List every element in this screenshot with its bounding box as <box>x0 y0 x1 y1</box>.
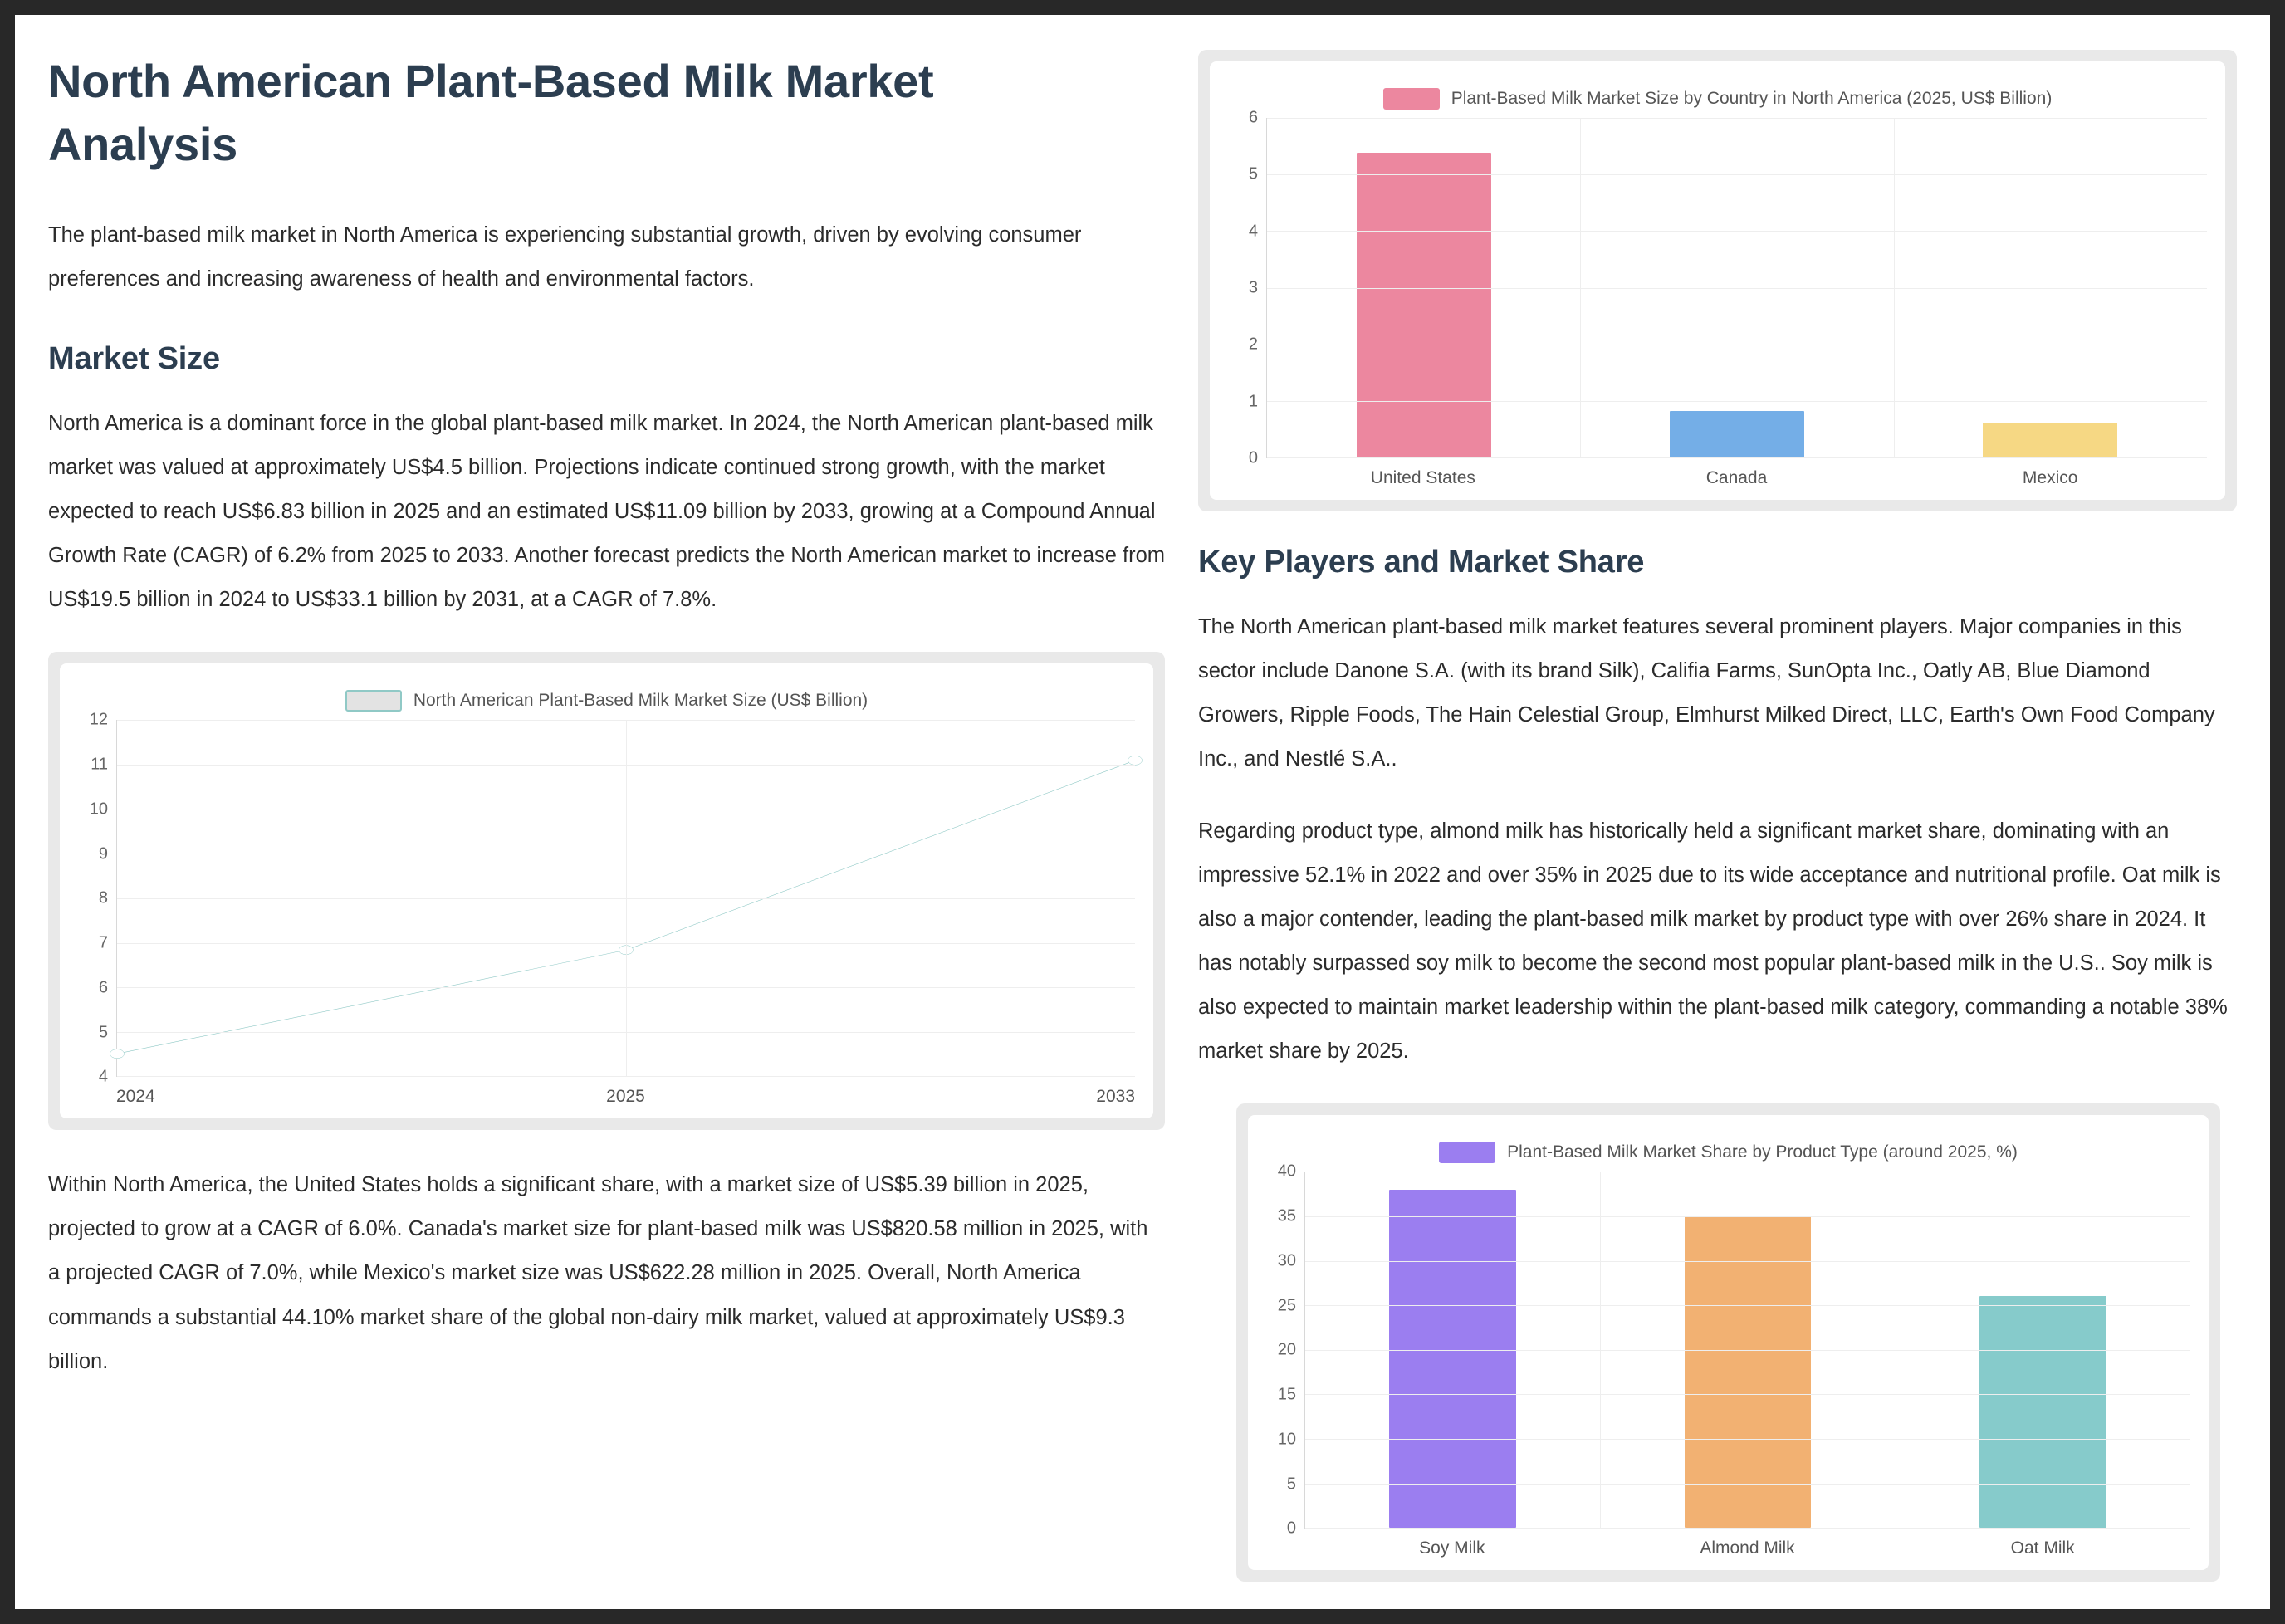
y-axis-tick: 2 <box>1249 335 1258 355</box>
y-axis-tick: 30 <box>1278 1251 1296 1270</box>
legend-swatch-product-type <box>1439 1142 1495 1163</box>
x-axis-product-type: Soy MilkAlmond MilkOat Milk <box>1304 1529 2190 1558</box>
gridline <box>1267 457 2207 458</box>
y-axis-product-type: 0510152025303540 <box>1266 1172 1304 1529</box>
y-axis-tick: 10 <box>90 800 108 819</box>
plot-market-size: 456789101112 <box>78 720 1135 1077</box>
gridline <box>1305 1261 2190 1262</box>
right-column: Plant-Based Milk Market Size by Country … <box>1198 50 2237 1609</box>
chart-card-market-size: North American Plant-Based Milk Market S… <box>48 652 1165 1130</box>
y-axis-tick: 35 <box>1278 1207 1296 1226</box>
gridline <box>1305 1172 2190 1172</box>
y-axis-market-size: 456789101112 <box>78 720 116 1077</box>
vertical-gridline <box>626 720 627 1076</box>
legend-label-country: Plant-Based Milk Market Size by Country … <box>1451 89 2053 109</box>
y-axis-tick: 5 <box>99 1023 108 1042</box>
x-axis-label: United States <box>1266 468 1580 488</box>
y-axis-tick: 3 <box>1249 279 1258 298</box>
gridline <box>1267 401 2207 402</box>
section-heading-market-size: Market Size <box>48 341 1165 377</box>
gridline <box>1305 1216 2190 1217</box>
bar <box>1389 1190 1516 1529</box>
y-axis-tick: 11 <box>91 756 108 775</box>
y-axis-country: 0123456 <box>1228 118 1266 458</box>
gridline <box>1267 345 2207 345</box>
y-axis-tick: 1 <box>1249 392 1258 411</box>
y-axis-tick: 9 <box>99 844 108 863</box>
market-size-paragraph-1: North America is a dominant force in the… <box>48 402 1165 622</box>
gridline <box>1305 1484 2190 1485</box>
chart-legend-product-type: Plant-Based Milk Market Share by Product… <box>1266 1142 2190 1163</box>
y-axis-tick: 5 <box>1249 165 1258 184</box>
left-column: North American Plant-Based Milk Market A… <box>48 50 1165 1609</box>
key-players-paragraph-2: Regarding product type, almond milk has … <box>1198 810 2237 1074</box>
x-axis-label: 2033 <box>795 1087 1135 1107</box>
y-axis-tick: 25 <box>1278 1296 1296 1315</box>
vertical-gridline <box>1580 118 1581 457</box>
data-point-marker <box>110 1049 124 1059</box>
plot-area-country <box>1266 118 2207 458</box>
gridline <box>1267 231 2207 232</box>
x-axis-label: 2025 <box>456 1087 795 1107</box>
vertical-gridline <box>1896 1172 1896 1528</box>
gridline <box>1305 1350 2190 1351</box>
gridline <box>1267 174 2207 175</box>
x-axis-label: Canada <box>1580 468 1894 488</box>
x-axis-label: Mexico <box>1893 468 2207 488</box>
legend-swatch-country <box>1383 88 1440 110</box>
bar <box>1670 411 1804 457</box>
gridline <box>117 1076 1135 1077</box>
y-axis-tick: 8 <box>99 889 108 908</box>
legend-swatch-market-size <box>345 690 402 712</box>
chart-inner-country: Plant-Based Milk Market Size by Country … <box>1210 61 2225 500</box>
chart-legend-country: Plant-Based Milk Market Size by Country … <box>1228 88 2207 110</box>
y-axis-tick: 0 <box>1249 449 1258 468</box>
x-axis-market-size: 202420252033 <box>116 1077 1135 1107</box>
y-axis-tick: 15 <box>1278 1386 1296 1405</box>
y-axis-tick: 0 <box>1287 1519 1296 1538</box>
plot-area-market-size <box>116 720 1135 1077</box>
legend-label-market-size: North American Plant-Based Milk Market S… <box>413 691 868 711</box>
gridline <box>1267 118 2207 119</box>
y-axis-tick: 4 <box>99 1068 108 1087</box>
document-page: North American Plant-Based Milk Market A… <box>15 15 2270 1609</box>
bar <box>1685 1216 1812 1528</box>
x-axis-label: Soy Milk <box>1304 1538 1600 1558</box>
bar <box>1979 1296 2106 1528</box>
bar <box>1983 423 2117 457</box>
gridline <box>1267 288 2207 289</box>
plot-area-product-type <box>1304 1172 2190 1529</box>
section-heading-key-players: Key Players and Market Share <box>1198 545 2237 580</box>
gridline <box>1305 1394 2190 1395</box>
y-axis-tick: 12 <box>90 711 108 730</box>
gridline <box>1305 1528 2190 1529</box>
plot-country: 0123456 <box>1228 118 2207 458</box>
x-axis-country: United StatesCanadaMexico <box>1266 458 2207 488</box>
document-columns: North American Plant-Based Milk Market A… <box>15 15 2270 1609</box>
intro-paragraph: The plant-based milk market in North Ame… <box>48 213 1165 301</box>
x-axis-label: Oat Milk <box>1895 1538 2190 1558</box>
vertical-gridline <box>1894 118 1895 457</box>
page-title: North American Plant-Based Milk Market A… <box>48 50 1028 175</box>
y-axis-tick: 20 <box>1278 1341 1296 1360</box>
y-axis-tick: 40 <box>1278 1162 1296 1181</box>
market-size-paragraph-2: Within North America, the United States … <box>48 1163 1165 1383</box>
chart-inner-product-type: Plant-Based Milk Market Share by Product… <box>1248 1115 2209 1570</box>
x-axis-label: 2024 <box>116 1087 456 1107</box>
vertical-gridline <box>1600 1172 1601 1528</box>
gridline <box>1305 1439 2190 1440</box>
y-axis-tick: 4 <box>1249 222 1258 241</box>
plot-product-type: 0510152025303540 <box>1266 1172 2190 1529</box>
chart-card-product-type: Plant-Based Milk Market Share by Product… <box>1236 1103 2220 1582</box>
bar <box>1357 153 1491 457</box>
gridline <box>1305 1305 2190 1306</box>
chart-inner-market-size: North American Plant-Based Milk Market S… <box>60 663 1153 1118</box>
x-axis-label: Almond Milk <box>1600 1538 1896 1558</box>
y-axis-tick: 5 <box>1287 1475 1296 1494</box>
chart-legend-market-size: North American Plant-Based Milk Market S… <box>78 690 1135 712</box>
y-axis-tick: 6 <box>99 978 108 997</box>
y-axis-tick: 7 <box>99 934 108 953</box>
key-players-paragraph-1: The North American plant-based milk mark… <box>1198 605 2237 781</box>
y-axis-tick: 10 <box>1278 1430 1296 1449</box>
y-axis-tick: 6 <box>1249 109 1258 128</box>
legend-label-product-type: Plant-Based Milk Market Share by Product… <box>1507 1142 2018 1162</box>
chart-card-country: Plant-Based Milk Market Size by Country … <box>1198 50 2237 511</box>
